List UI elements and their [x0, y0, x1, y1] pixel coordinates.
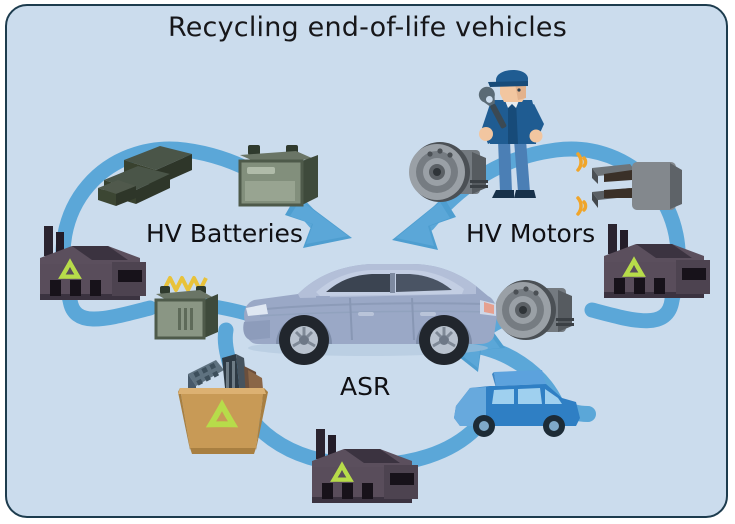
label-asr: ASR — [340, 372, 390, 401]
label-hv-motors: HV Motors — [466, 219, 595, 248]
label-hv-batteries: HV Batteries — [146, 219, 303, 248]
page-title: Recycling end-of-life vehicles — [0, 12, 735, 43]
infographic-canvas: Recycling end-of-life vehicles — [0, 0, 735, 524]
figure-card — [5, 4, 728, 518]
